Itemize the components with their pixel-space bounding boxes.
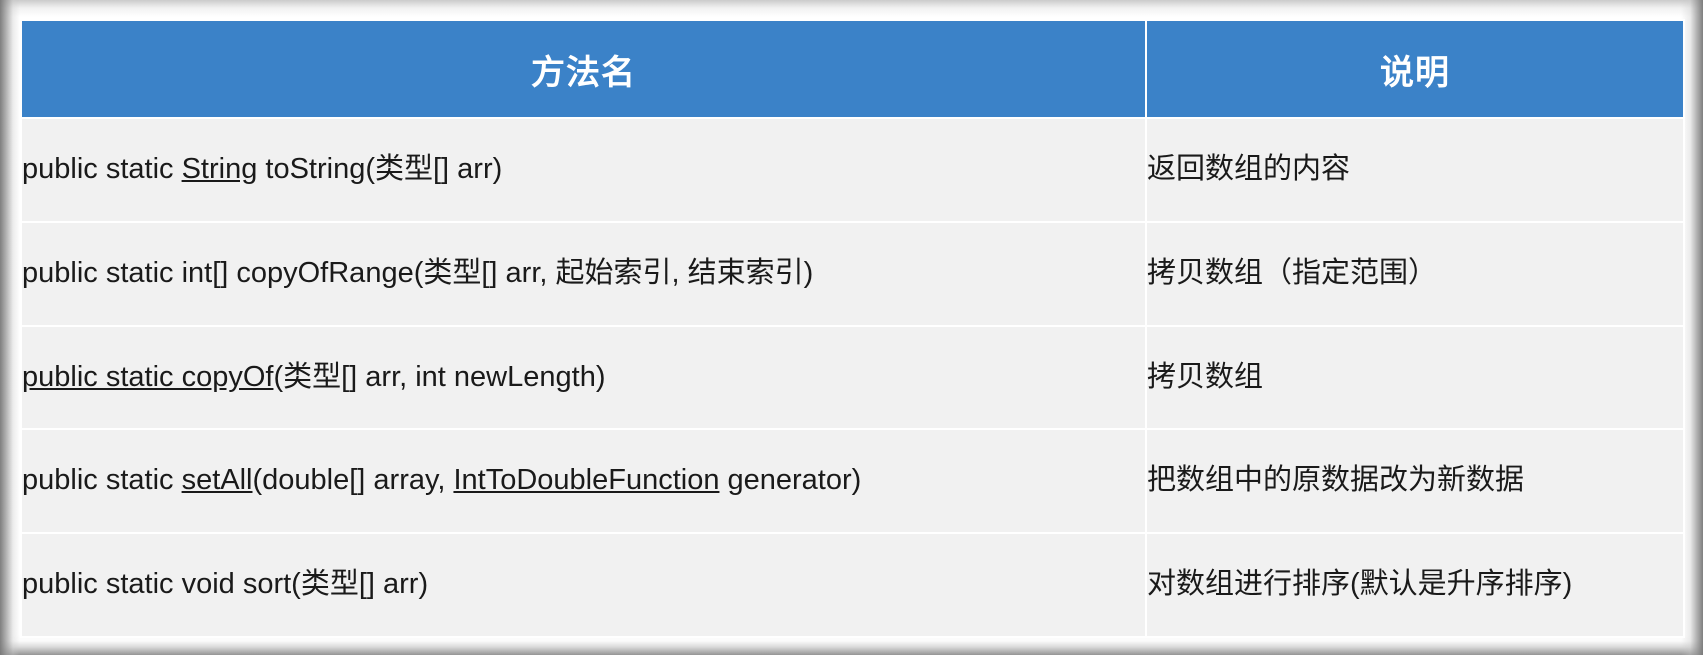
table-row: public static copyOf(类型[] arr, int newLe… xyxy=(22,327,1683,429)
cell-description: 拷贝数组 xyxy=(1147,327,1683,429)
header-row: 方法名 说明 xyxy=(22,21,1683,117)
cell-method-signature: public static int[] copyOfRange(类型[] arr… xyxy=(22,223,1145,325)
method-table-container: 方法名 说明 public static String toString(类型[… xyxy=(20,19,1683,638)
method-link-copyOf[interactable]: public static copyOf xyxy=(22,361,273,393)
method-text-suffix: (类型[] arr, int newLength) xyxy=(273,361,605,393)
cell-description: 拷贝数组（指定范围） xyxy=(1147,223,1683,325)
method-text-prefix: public static xyxy=(22,464,182,496)
cell-method-signature: public static void sort(类型[] arr) xyxy=(22,534,1145,636)
cell-description: 返回数组的内容 xyxy=(1147,119,1683,221)
column-header-method-name: 方法名 xyxy=(22,21,1145,117)
cell-description: 把数组中的原数据改为新数据 xyxy=(1147,430,1683,532)
cell-method-signature: public static copyOf(类型[] arr, int newLe… xyxy=(22,327,1145,429)
table-row: public static int[] copyOfRange(类型[] arr… xyxy=(22,223,1683,325)
method-text-prefix: public static void sort(类型[] arr) xyxy=(22,568,428,600)
method-text-prefix: public static int[] copyOfRange(类型[] arr… xyxy=(22,257,813,289)
method-text-suffix: toString(类型[] arr) xyxy=(257,153,502,185)
page-canvas: 方法名 说明 public static String toString(类型[… xyxy=(0,0,1703,655)
column-header-description: 说明 xyxy=(1147,21,1683,117)
table-header: 方法名 说明 xyxy=(22,21,1683,117)
method-text-suffix: generator) xyxy=(719,464,861,496)
method-text-prefix: public static xyxy=(22,153,182,185)
method-text-middle: (double[] array, xyxy=(253,464,454,496)
method-link-setAll[interactable]: setAll xyxy=(182,464,253,496)
cell-method-signature: public static setAll(double[] array, Int… xyxy=(22,430,1145,532)
cell-method-signature: public static String toString(类型[] arr) xyxy=(22,119,1145,221)
table-body: public static String toString(类型[] arr) … xyxy=(22,119,1683,636)
table-row: public static void sort(类型[] arr) 对数组进行排… xyxy=(22,534,1683,636)
method-link-String[interactable]: String xyxy=(182,153,258,185)
table-row: public static String toString(类型[] arr) … xyxy=(22,119,1683,221)
arrays-method-table: 方法名 说明 public static String toString(类型[… xyxy=(20,19,1685,638)
table-row: public static setAll(double[] array, Int… xyxy=(22,430,1683,532)
method-link-IntToDoubleFunction[interactable]: IntToDoubleFunction xyxy=(453,464,719,496)
cell-description: 对数组进行排序(默认是升序排序) xyxy=(1147,534,1683,636)
